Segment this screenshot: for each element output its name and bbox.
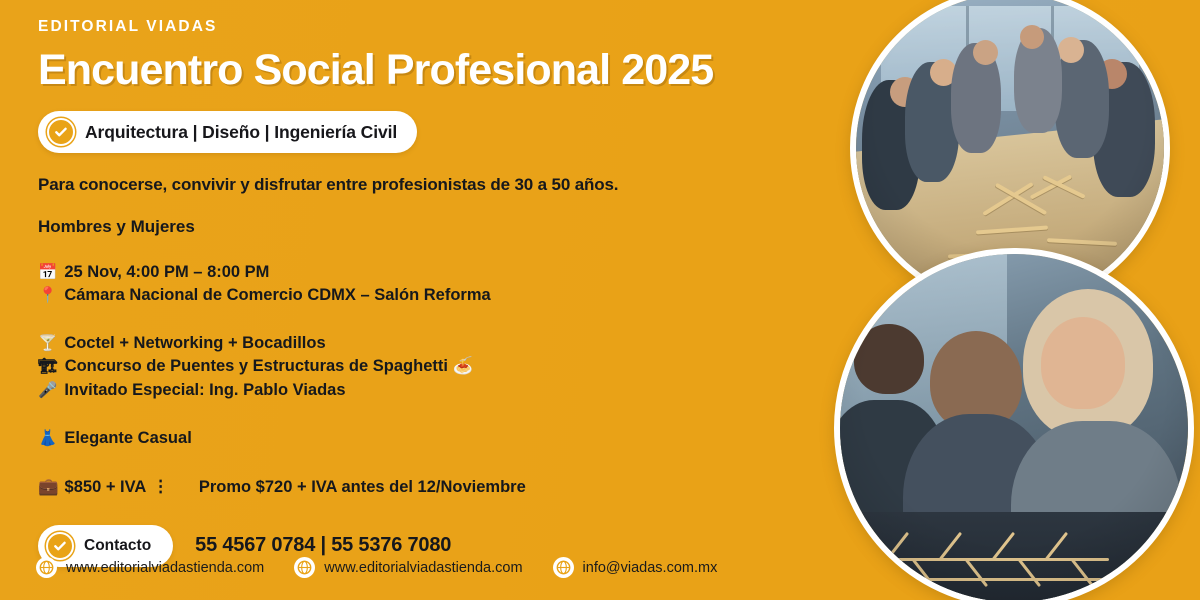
detail-venue-text: Cámara Nacional de Comercio CDMX – Salón…	[64, 284, 490, 307]
page-title: Encuentro Social Profesional 2025	[38, 46, 838, 95]
cocktail-glass-icon: 🍸	[38, 333, 57, 355]
program-item: 🎤 Invitado Especial: Ing. Pablo Viadas	[38, 379, 838, 402]
bridge-building-photo	[834, 248, 1194, 600]
microphone-icon: 🎤	[38, 380, 57, 402]
footer-link-email[interactable]: info@viadas.com.mx	[553, 557, 718, 578]
dresscode-block: 👗 Elegante Casual	[38, 426, 838, 451]
dresscode-text: Elegante Casual	[64, 426, 191, 450]
detail-date: 📅 25 Nov, 4:00 PM – 8:00 PM	[38, 261, 838, 284]
detail-venue: 📍 Cámara Nacional de Comercio CDMX – Sal…	[38, 284, 838, 307]
contact-phones[interactable]: 55 4567 0784 | 55 5376 7080	[195, 534, 451, 557]
details-block: 📅 25 Nov, 4:00 PM – 8:00 PM 📍 Cámara Nac…	[38, 261, 838, 308]
briefcase-icon: 💼	[38, 478, 59, 497]
flyer-content: EDITORIAL VIADAS Encuentro Social Profes…	[38, 18, 838, 567]
globe-icon	[553, 557, 574, 578]
program-item: 🍸 Coctel + Networking + Bocadillos	[38, 332, 838, 355]
contact-label: Contacto	[84, 537, 151, 555]
footer-link-website-2[interactable]: www.editorialviadastienda.com	[294, 557, 522, 578]
footer-links: www.editorialviadastienda.com www.editor…	[36, 557, 717, 578]
price-promo: Promo $720 + IVA antes del 12/Noviembre	[199, 478, 526, 497]
footer-link-text: info@viadas.com.mx	[583, 560, 718, 576]
price-block: 💼 $850 + IVA ⋮ Promo $720 + IVA antes de…	[38, 477, 838, 497]
dress-icon: 👗	[38, 428, 57, 451]
check-circle-icon	[47, 118, 75, 146]
lead-text: Para conocerse, convivir y disfrutar ent…	[38, 175, 838, 195]
bridge-construction-icon: 🏗	[38, 356, 58, 378]
footer-link-website-1[interactable]: www.editorialviadastienda.com	[36, 557, 264, 578]
location-pin-icon: 📍	[38, 285, 57, 307]
globe-icon	[36, 557, 57, 578]
event-flyer: EDITORIAL VIADAS Encuentro Social Profes…	[0, 0, 1200, 600]
program-item-text: Invitado Especial: Ing. Pablo Viadas	[64, 379, 345, 402]
calendar-icon: 📅	[38, 262, 57, 284]
brand-name: EDITORIAL VIADAS	[38, 18, 838, 36]
check-circle-icon	[46, 532, 74, 560]
detail-date-text: 25 Nov, 4:00 PM – 8:00 PM	[64, 261, 269, 284]
globe-icon	[294, 557, 315, 578]
footer-link-text: www.editorialviadastienda.com	[324, 560, 522, 576]
photo-cluster	[780, 0, 1200, 600]
disciplines-pill: Arquitectura | Diseño | Ingeniería Civil	[38, 111, 417, 153]
dresscode-line: 👗 Elegante Casual	[38, 426, 838, 451]
price-amount: $850 + IVA	[65, 478, 147, 497]
program-block: 🍸 Coctel + Networking + Bocadillos 🏗 Con…	[38, 332, 838, 402]
program-item-text: Coctel + Networking + Bocadillos	[64, 332, 325, 355]
disciplines-label: Arquitectura | Diseño | Ingeniería Civil	[85, 122, 397, 143]
footer-link-text: www.editorialviadastienda.com	[66, 560, 264, 576]
price-separator: ⋮	[152, 477, 169, 497]
program-item-text: Concurso de Puentes y Estructuras de Spa…	[65, 355, 473, 378]
audience-text: Hombres y Mujeres	[38, 217, 838, 237]
program-item: 🏗 Concurso de Puentes y Estructuras de S…	[38, 355, 838, 378]
